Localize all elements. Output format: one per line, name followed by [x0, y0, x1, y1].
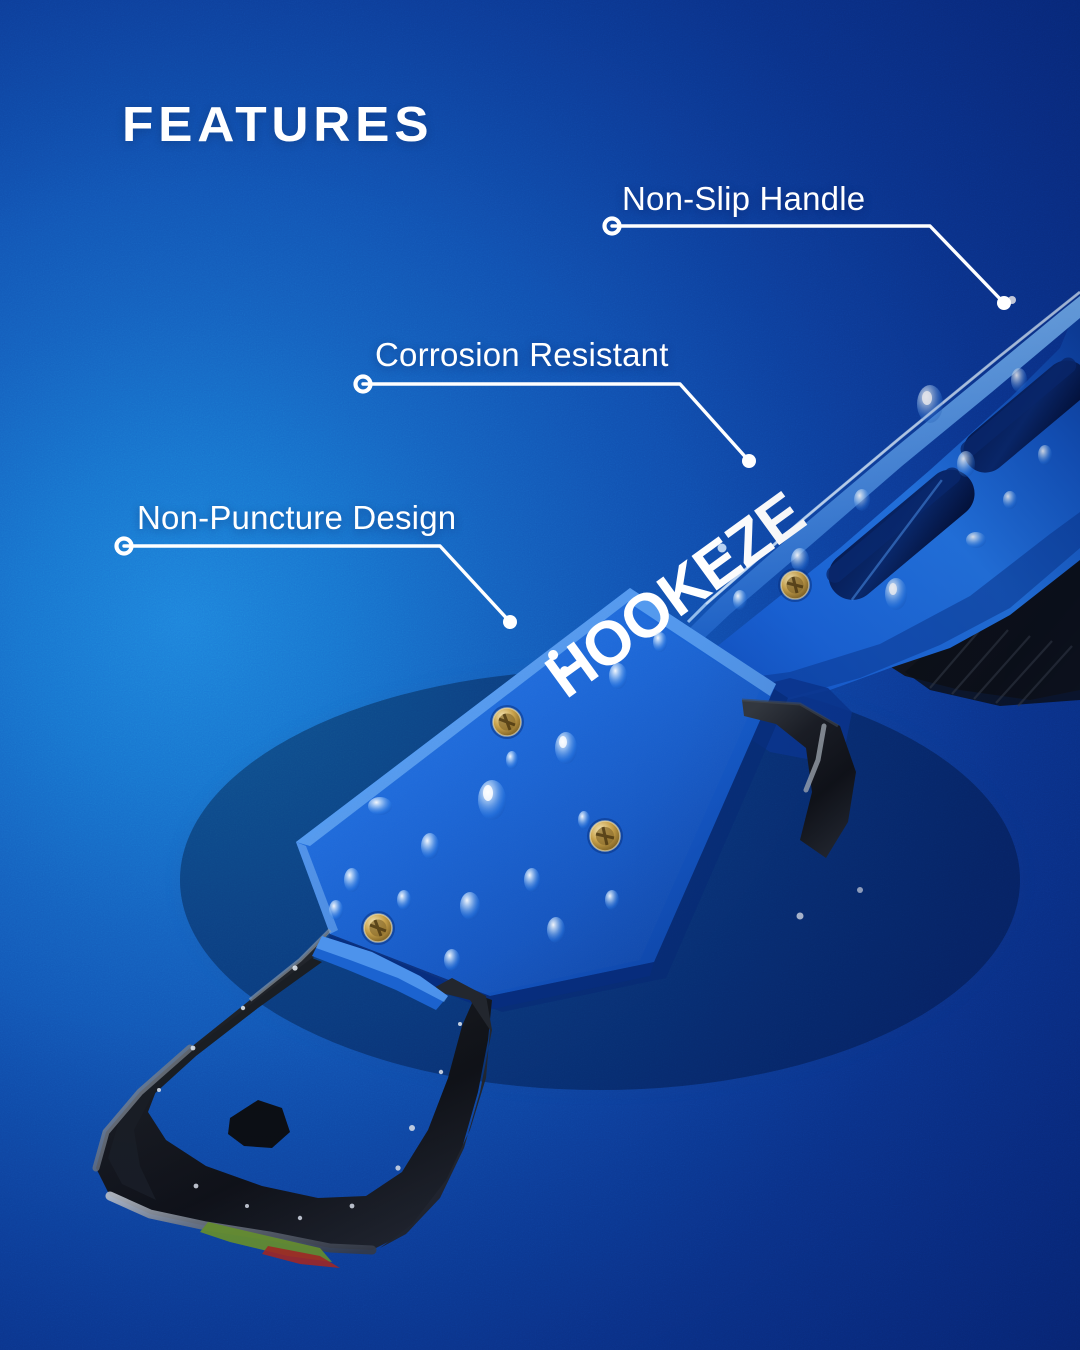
callout-leader-line-non-puncture-design — [0, 0, 1080, 1350]
poster-canvas: HOOKEZE — [0, 0, 1080, 1350]
